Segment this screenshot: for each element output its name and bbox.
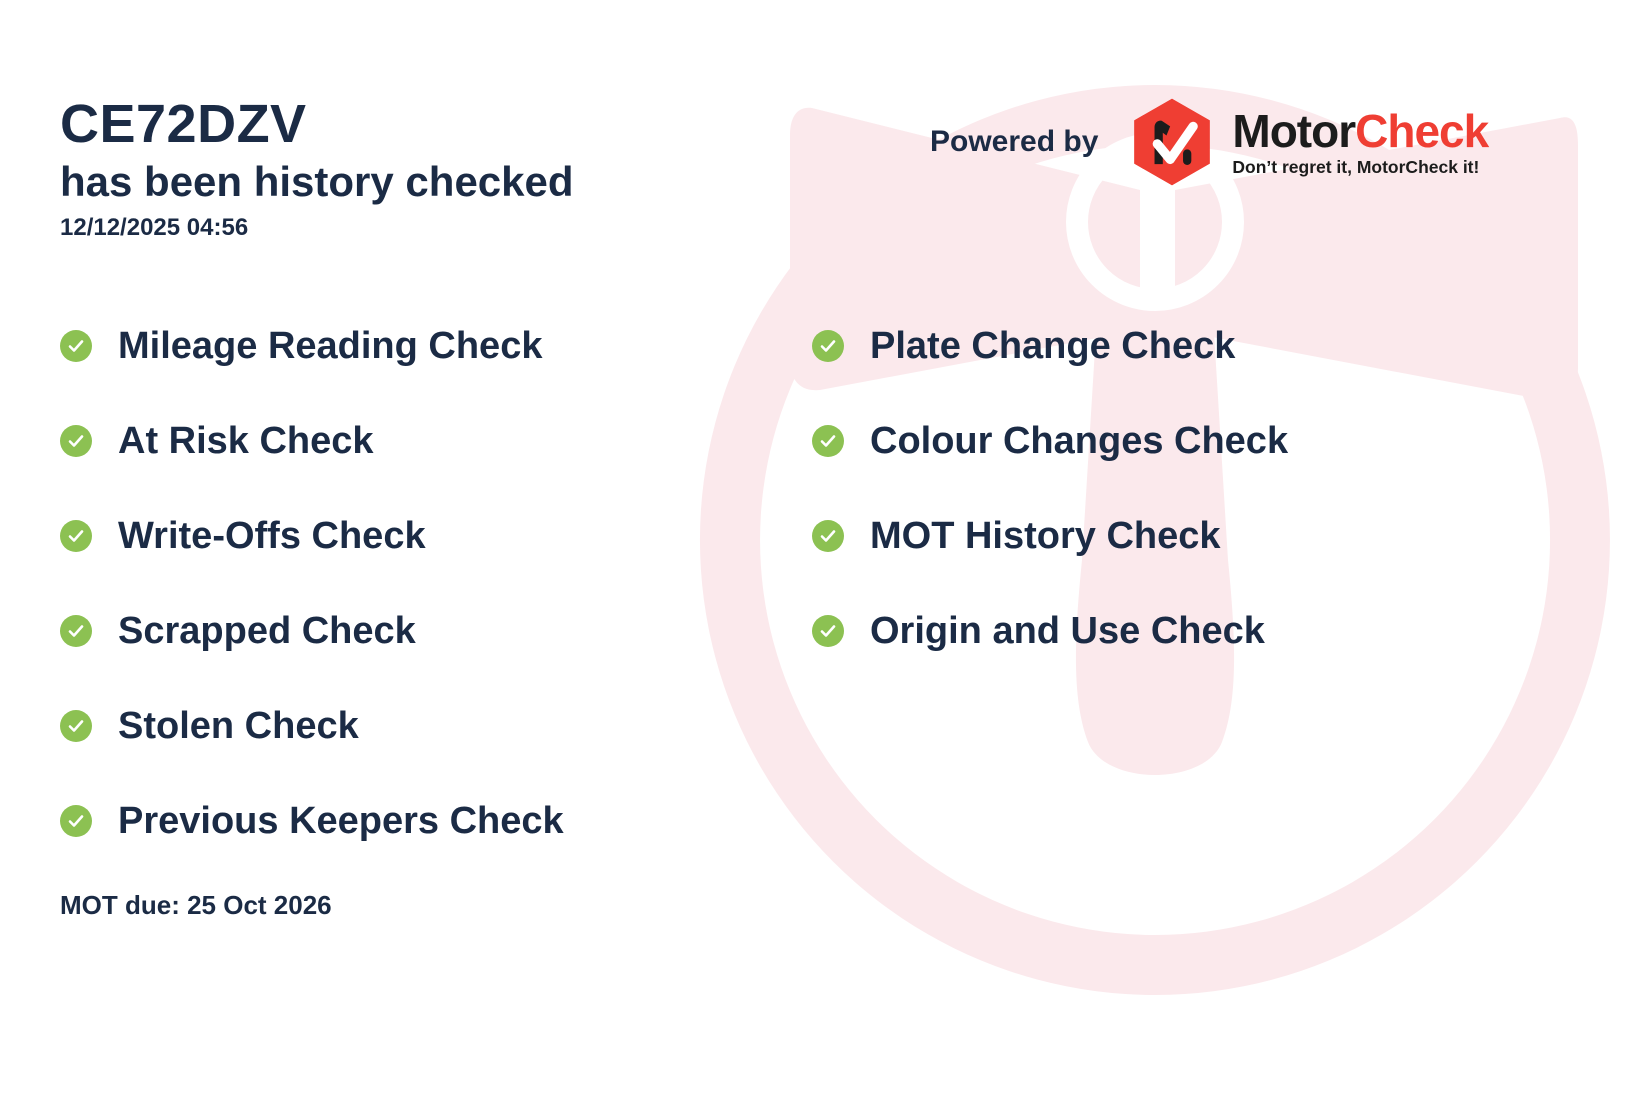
powered-by-block: Powered by MotorCheck Don’t regret it, M…	[930, 96, 1488, 188]
check-label: Stolen Check	[118, 707, 359, 745]
motorcheck-hexagon-logo-icon	[1126, 96, 1218, 188]
check-item-at-risk: At Risk Check	[60, 413, 564, 469]
check-circle-icon	[812, 615, 844, 647]
check-item-write-offs: Write-Offs Check	[60, 508, 564, 564]
check-item-colour-changes: Colour Changes Check	[812, 413, 1288, 469]
registration-plate: CE72DZV	[60, 96, 574, 153]
check-item-stolen: Stolen Check	[60, 698, 564, 754]
check-label: MOT History Check	[870, 517, 1221, 555]
check-circle-icon	[60, 710, 92, 742]
check-timestamp: 12/12/2025 04:56	[60, 214, 574, 242]
check-item-plate-change: Plate Change Check	[812, 318, 1288, 374]
check-circle-icon	[60, 615, 92, 647]
check-label: Previous Keepers Check	[118, 802, 564, 840]
vehicle-history-check-card: CE72DZV has been history checked 12/12/2…	[0, 0, 1650, 1100]
motorcheck-name: MotorCheck	[1232, 108, 1488, 154]
motorcheck-wordmark: MotorCheck Don’t regret it, MotorCheck i…	[1232, 108, 1488, 177]
check-circle-icon	[60, 425, 92, 457]
check-circle-icon	[60, 520, 92, 552]
logo-name-check: Check	[1355, 105, 1488, 157]
check-circle-icon	[812, 425, 844, 457]
check-label: Plate Change Check	[870, 327, 1235, 365]
mot-due-text: MOT due: 25 Oct 2026	[60, 890, 332, 921]
motorcheck-logo[interactable]: MotorCheck Don’t regret it, MotorCheck i…	[1126, 96, 1488, 188]
motorcheck-tagline: Don’t regret it, MotorCheck it!	[1232, 159, 1488, 177]
check-item-mileage-reading: Mileage Reading Check	[60, 318, 564, 374]
check-circle-icon	[812, 330, 844, 362]
check-circle-icon	[60, 805, 92, 837]
check-label: Scrapped Check	[118, 612, 416, 650]
check-label: Origin and Use Check	[870, 612, 1265, 650]
check-label: Colour Changes Check	[870, 422, 1288, 460]
header-block: CE72DZV has been history checked 12/12/2…	[60, 96, 574, 242]
checks-left-column: Mileage Reading Check At Risk Check Writ…	[60, 318, 564, 888]
check-circle-icon	[60, 330, 92, 362]
logo-name-motor: Motor	[1232, 105, 1355, 157]
check-item-scrapped: Scrapped Check	[60, 603, 564, 659]
checks-right-column: Plate Change Check Colour Changes Check …	[812, 318, 1288, 698]
check-label: Write-Offs Check	[118, 517, 426, 555]
check-label: At Risk Check	[118, 422, 374, 460]
check-item-previous-keepers: Previous Keepers Check	[60, 793, 564, 849]
check-item-origin-and-use: Origin and Use Check	[812, 603, 1288, 659]
check-label: Mileage Reading Check	[118, 327, 542, 365]
check-item-mot-history: MOT History Check	[812, 508, 1288, 564]
powered-by-label: Powered by	[930, 125, 1098, 159]
check-circle-icon	[812, 520, 844, 552]
page-title: has been history checked	[60, 157, 574, 207]
